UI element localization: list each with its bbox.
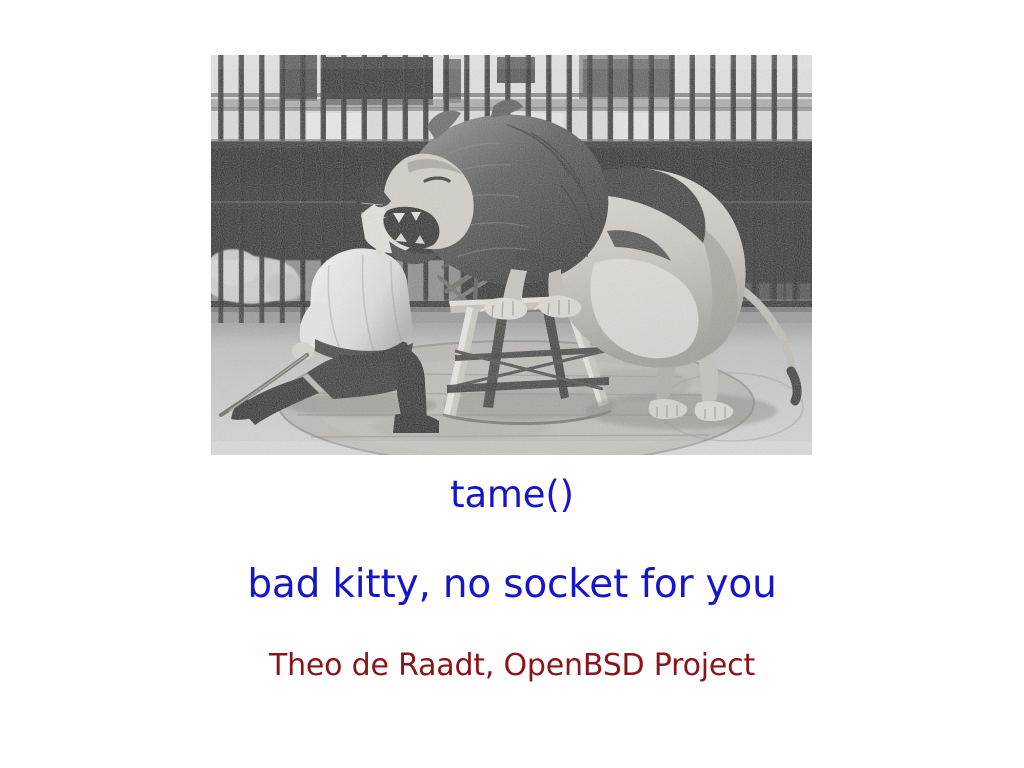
- lion-tamer-photo-graphic: [211, 55, 812, 455]
- presentation-slide: tame() bad kitty, no socket for you Theo…: [0, 0, 1024, 768]
- lion-tamer-photo: [211, 55, 812, 455]
- slide-subtitle: bad kitty, no socket for you: [0, 562, 1024, 608]
- slide-author: Theo de Raadt, OpenBSD Project: [0, 648, 1024, 684]
- slide-title: tame(): [0, 474, 1024, 516]
